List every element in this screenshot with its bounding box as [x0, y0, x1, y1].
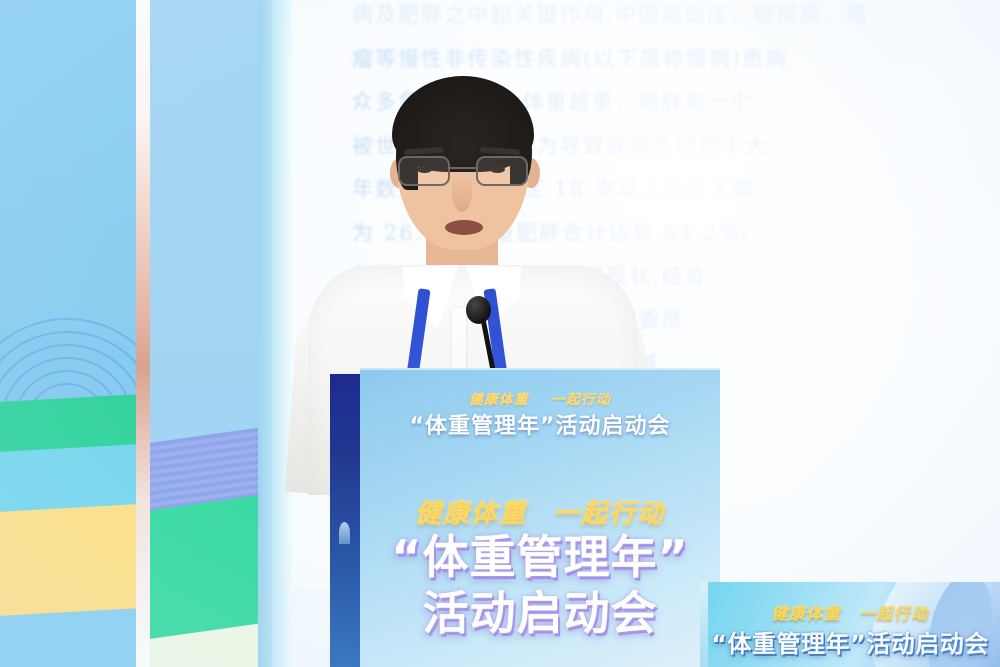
microphone-head [466, 296, 491, 324]
color-band-yellow [0, 504, 136, 621]
nose [452, 172, 472, 212]
color-band-blue [0, 608, 136, 667]
podium-side-highlight [339, 522, 350, 544]
color-band-cyan [0, 444, 136, 515]
podium-side-panel [330, 374, 360, 667]
glasses-bridge [450, 167, 476, 169]
podium-top-subtitle-part1: 健康体重 [469, 392, 529, 408]
podium-top-subtitle: 健康体重一起行动 [360, 388, 720, 408]
podium-top-title: “体重管理年”活动启动会 [360, 408, 720, 440]
podium-main-subtitle: 健康体重一起行动 [360, 493, 720, 530]
banner-subtitle: 健康体重一起行动 [700, 600, 1000, 624]
wall-panel-left [0, 0, 136, 667]
podium-main-title-line1: “体重管理年” [360, 534, 720, 580]
speaker-podium: 健康体重一起行动 “体重管理年”活动启动会 健康体重一起行动 “体重管理年” 活… [330, 368, 720, 667]
podium-main-subtitle-part2: 一起行动 [553, 499, 665, 529]
lens-right [476, 156, 528, 186]
screenshot-root: 病及肥胖之中起关键作用,中国高血压、糖尿病、癌 瘤等慢性非传染性疾病(以下简称慢… [0, 0, 1000, 667]
banner-subtitle-part1: 健康体重 [771, 604, 841, 623]
wall-panel-seam [136, 0, 150, 667]
slide-line: 病及肥胖之中起关键作用,中国高血压、糖尿病、癌 [300, 0, 1000, 38]
podium-main-title-line2: 活动启动会 [360, 590, 720, 636]
wall-panel-edge [272, 0, 292, 667]
podium-main-subtitle-part1: 健康体重 [415, 499, 527, 529]
banner-subtitle-part2: 一起行动 [859, 604, 929, 623]
banner-title: “体重管理年”活动启动会 [700, 624, 1000, 659]
mouth [445, 220, 483, 235]
podium-top-subtitle-part2: 一起行动 [551, 392, 611, 408]
lens-left [398, 156, 450, 186]
podium-front-panel: 健康体重一起行动 “体重管理年”活动启动会 健康体重一起行动 “体重管理年” 活… [360, 368, 720, 667]
stage-banner: 健康体重一起行动 “体重管理年”活动启动会 [700, 582, 1000, 667]
